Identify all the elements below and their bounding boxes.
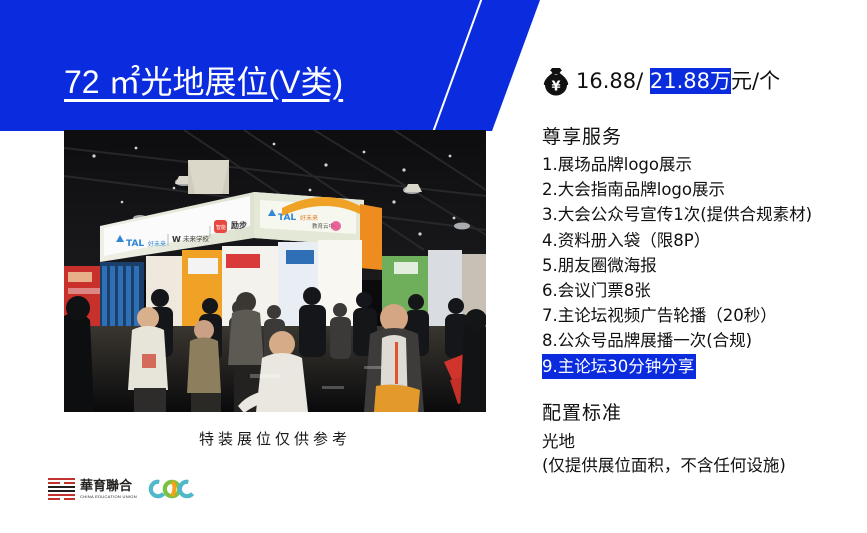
svg-text:智能: 智能 [216,224,226,231]
svg-text:好未来: 好未来 [148,240,166,248]
service-item-5: 5.朋友圈微海报 [542,253,867,278]
booth-photo-illustration: TAL 好未来 W 未来学校 智能 励步 TAL 好未来 教育云中心 [64,130,486,412]
service-item-1: 1.展场品牌logo展示 [542,152,867,177]
page-title: 72 ㎡光地展位(V类) [64,57,343,103]
booth-photo: TAL 好未来 W 未来学校 智能 励步 TAL 好未来 教育云中心 [64,130,486,412]
cdc-logo-mark [146,478,198,500]
right-column: ¥ 16.88/ 21.88万元/个 尊享服务 1.展场品牌logo展示2.大会… [538,0,867,533]
bar-5 [48,494,75,496]
svg-text:¥: ¥ [551,79,560,94]
logo-text-block: 華育聯合 CHINA EDUCATION UNION [80,480,137,499]
logo-english-name: CHINA EDUCATION UNION [80,495,137,499]
bar-1 [48,478,75,480]
cdc-logo [146,478,198,500]
config-heading: 配置标准 [542,398,622,425]
slide-root: 72 ㎡光地展位(V类) [0,0,867,533]
photo-caption: 特装展位仅供参考 [64,428,486,449]
config-line-1: 光地 [542,430,867,454]
service-item-7: 7.主论坛视频广告轮播（20秒） [542,303,867,328]
svg-text:好未来: 好未来 [300,214,318,222]
logo-chinese-name: 華育聯合 [80,480,137,493]
service-item-6: 6.会议门票8张 [542,278,867,303]
footer-logos: 華育聯合 CHINA EDUCATION UNION [48,478,198,500]
bar-2 [48,482,75,484]
price-highlight: 21.88万 [650,68,731,94]
china-education-union-logo: 華育聯合 CHINA EDUCATION UNION [48,478,137,500]
money-bag-icon: ¥ [542,66,570,96]
svg-text:TAL: TAL [126,239,144,249]
svg-text:励步: 励步 [231,220,247,230]
bar-4 [48,490,75,492]
service-item-8: 8.公众号品牌展播一次(合规) [542,328,867,353]
service-item-2: 2.大会指南品牌logo展示 [542,177,867,202]
price-prefix: 16.88/ [576,69,650,93]
price-row: ¥ 16.88/ 21.88万元/个 [542,66,780,96]
config-lines: 光地(仅提供展位面积，不含任何设施) [542,430,867,478]
services-list: 1.展场品牌logo展示2.大会指南品牌logo展示3.大会公众号宣传1次(提供… [542,152,867,379]
bar-3 [48,486,75,488]
service-item-9: 9.主论坛30分钟分享 [542,354,696,379]
price-suffix: 元/个 [731,69,780,93]
service-item-3: 3.大会公众号宣传1次(提供合规素材) [542,202,867,227]
services-heading: 尊享服务 [542,122,622,149]
svg-text:未来学校: 未来学校 [183,234,210,243]
logo-trigram-bars [48,478,75,500]
bar-6 [48,498,75,500]
price-text: 16.88/ 21.88万元/个 [576,71,780,92]
config-line-2: (仅提供展位面积，不含任何设施) [542,454,867,478]
svg-text:W: W [172,235,181,244]
service-item-4: 4.资料册入袋（限8P） [542,228,867,253]
svg-text:TAL: TAL [278,213,296,223]
